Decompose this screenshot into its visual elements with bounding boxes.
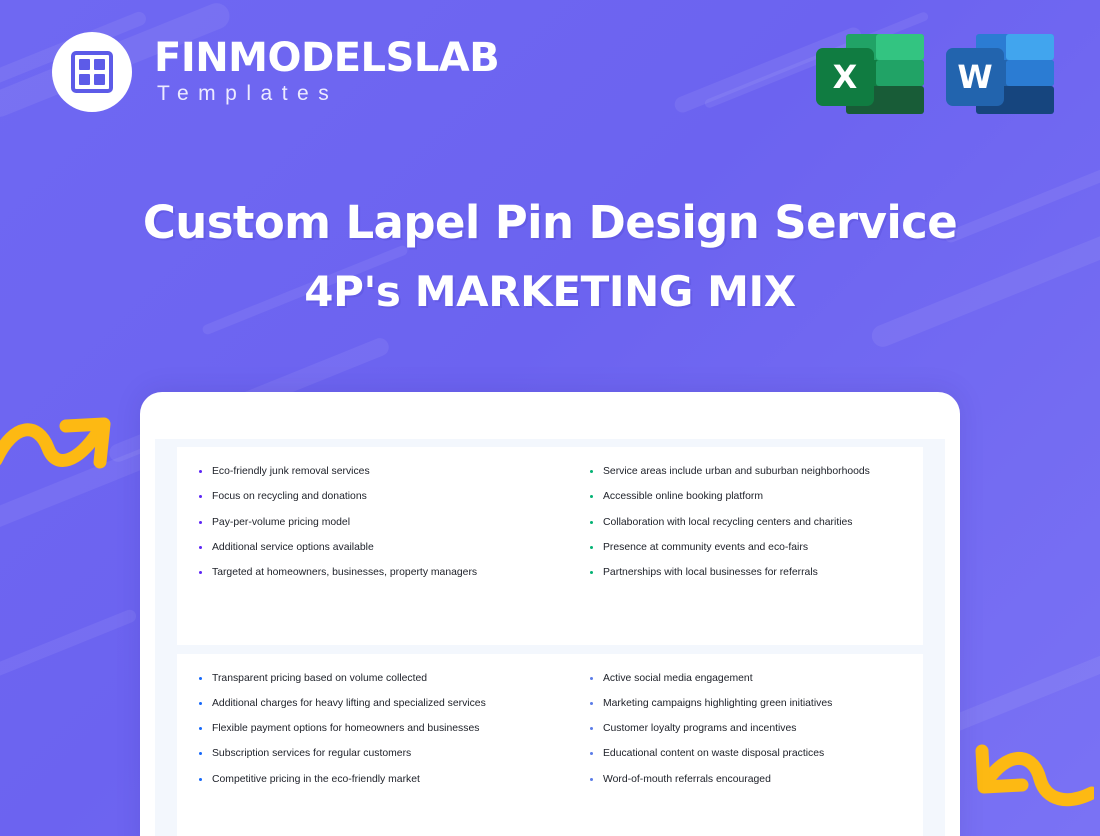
quadrant-list-price: Service areas include urban and suburban… xyxy=(550,447,923,645)
quadrant-list-promotion: Active social media engagement Marketing… xyxy=(550,654,923,836)
list-item: Educational content on waste disposal pr… xyxy=(590,747,901,761)
word-file-icon: W xyxy=(946,28,1054,120)
list-item: Competitive pricing in the eco-friendly … xyxy=(199,773,510,787)
list-item: Presence at community events and eco-fai… xyxy=(590,541,901,555)
list-item: Marketing campaigns highlighting green i… xyxy=(590,697,901,711)
list-item: Subscription services for regular custom… xyxy=(199,747,510,761)
list-item: Collaboration with local recycling cente… xyxy=(590,516,901,530)
list-item: Word-of-mouth referrals encouraged xyxy=(590,773,901,787)
list-item: Customer loyalty programs and incentives xyxy=(590,722,901,736)
list-item: Active social media engagement xyxy=(590,672,901,686)
list-item: Eco-friendly junk removal services xyxy=(199,465,510,479)
brand-name: FINMODELSLAB xyxy=(154,38,499,79)
file-format-badges: X W xyxy=(816,28,1054,120)
excel-file-icon: X xyxy=(816,28,924,120)
list-item: Focus on recycling and donations xyxy=(199,490,510,504)
title-line-1: Custom Lapel Pin Design Service xyxy=(0,196,1100,249)
brand-subtitle: Templates xyxy=(154,82,499,106)
list-item: Transparent pricing based on volume coll… xyxy=(199,672,510,686)
list-item: Targeted at homeowners, businesses, prop… xyxy=(199,566,510,580)
squiggly-arrow-up-right-icon xyxy=(0,400,124,480)
squiggly-arrow-down-left-icon xyxy=(964,735,1094,815)
list-item: Additional charges for heavy lifting and… xyxy=(199,697,510,711)
list-item: Flexible payment options for homeowners … xyxy=(199,722,510,736)
list-item: Accessible online booking platform xyxy=(590,490,901,504)
list-item: Service areas include urban and suburban… xyxy=(590,465,901,479)
quadrant-list-product: Eco-friendly junk removal services Focus… xyxy=(177,447,550,645)
quadrant-grid: Eco-friendly junk removal services Focus… xyxy=(177,447,923,836)
page-title: Custom Lapel Pin Design Service 4P's MAR… xyxy=(0,196,1100,316)
bg-brush-stroke xyxy=(0,608,138,732)
title-line-2: 4P's MARKETING MIX xyxy=(0,267,1100,316)
quadrant-list-place: Transparent pricing based on volume coll… xyxy=(177,654,550,836)
list-item: Partnerships with local businesses for r… xyxy=(590,566,901,580)
content-card: Eco-friendly junk removal services Focus… xyxy=(140,392,960,836)
brand-logo: FINMODELSLAB Templates xyxy=(52,32,499,112)
grid-logo-icon xyxy=(52,32,132,112)
list-item: Pay-per-volume pricing model xyxy=(199,516,510,530)
diagram-panel: Eco-friendly junk removal services Focus… xyxy=(155,439,945,836)
list-item: Additional service options available xyxy=(199,541,510,555)
